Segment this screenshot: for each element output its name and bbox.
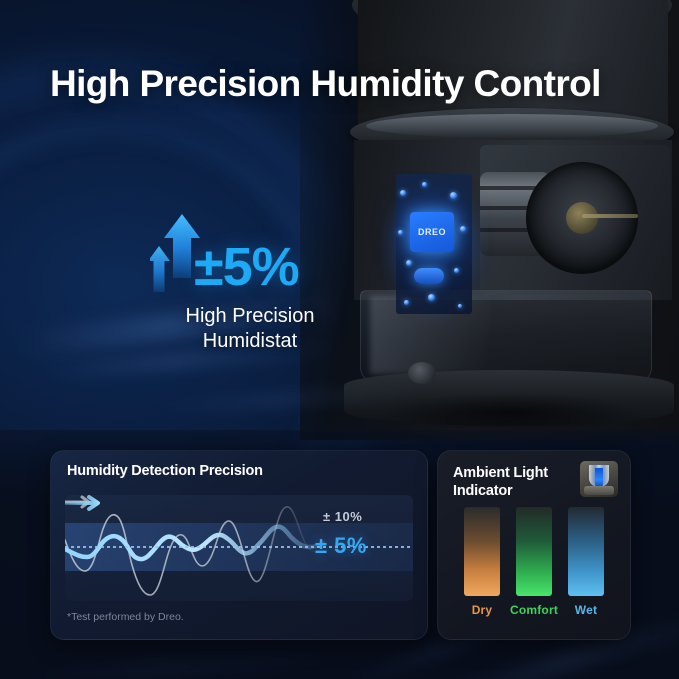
bar-fill-comfort [516, 507, 552, 596]
up-arrow-small-icon [150, 246, 170, 292]
pcb-component-dot [406, 260, 412, 266]
bar-fill-wet [568, 507, 604, 596]
circuit-board-glow: DREO [392, 168, 476, 320]
precision-subtitle-line1: High Precision [150, 304, 350, 329]
pcb-component-dot [454, 268, 459, 273]
light-panel-title-line1: Ambient Light [453, 464, 573, 482]
chart-footnote: *Test performed by Dreo. [67, 611, 184, 623]
precision-value-row: ±5% [194, 240, 299, 294]
indicator-bar-dry: Dry [464, 507, 500, 617]
pcb-component-dot [404, 300, 409, 305]
product-fan-shaft [582, 214, 638, 218]
pcb-component-dot [398, 230, 403, 235]
pcb-component-dot [458, 304, 462, 308]
humidity-precision-panel: Humidity Detection Precision [50, 450, 428, 640]
page-title: High Precision Humidity Control [50, 64, 650, 105]
baseline-label: ± 10% [323, 509, 362, 524]
chart-panel-title: Humidity Detection Precision [67, 463, 263, 479]
nozzle-base [584, 486, 614, 495]
pcb-component-dot [422, 182, 427, 187]
pcb-component-dot [428, 294, 435, 301]
waveform-plot: ± 10% ± 5% [65, 495, 413, 601]
promo-image-root: DREO High Precision Humidity Control [0, 0, 679, 679]
dreo-chip: DREO [410, 212, 454, 252]
product-fan-hub [566, 202, 598, 234]
nozzle-blue-glow [595, 468, 603, 488]
indicator-bar-wet: Wet [568, 507, 604, 617]
bar-label-comfort: Comfort [510, 603, 558, 617]
pcb-component-dot [450, 192, 457, 199]
pcb-component-dot [460, 226, 466, 232]
product-nozzle-thumbnail-icon [580, 461, 618, 497]
pcb-component-dot [400, 190, 406, 196]
product-lip-highlight [366, 114, 658, 138]
precision-subtitle: High Precision Humidistat [150, 304, 350, 354]
precision-arrow-icon [65, 495, 107, 511]
precision-waveform [65, 527, 323, 559]
indicator-bars: Dry Comfort Wet [438, 507, 630, 617]
precision-label: ± 5% [315, 533, 367, 559]
light-panel-title: Ambient Light Indicator [453, 464, 573, 500]
indicator-bar-comfort: Comfort [516, 507, 552, 617]
bar-fill-dry [464, 507, 500, 596]
dreo-chip-label: DREO [418, 227, 446, 237]
precision-subtitle-line2: Humidistat [150, 329, 350, 354]
bar-label-dry: Dry [472, 603, 493, 617]
pcb-capacitor [414, 268, 444, 284]
bar-label-wet: Wet [575, 603, 597, 617]
product-base-knob [408, 362, 436, 384]
precision-value: ±5% [194, 240, 299, 294]
ambient-light-panel: Ambient Light Indicator Dry Comfort Wet [437, 450, 631, 640]
light-panel-title-line2: Indicator [453, 482, 573, 500]
